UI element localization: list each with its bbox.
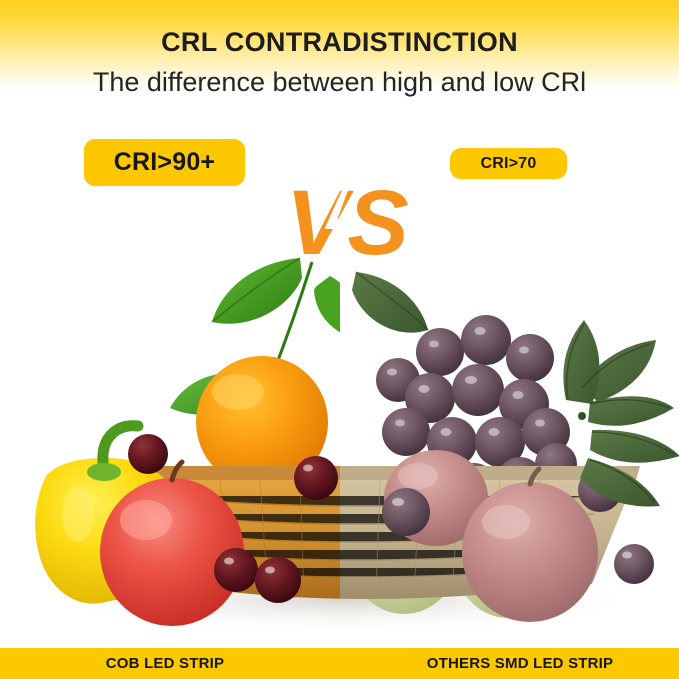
badge-cri-90: CRI>90+ (84, 139, 245, 186)
page-subtitle: The difference between high and low CRl (0, 67, 679, 98)
footer-label-smd: OTHERS SMD LED STRIP (395, 648, 645, 679)
versus-graphic: VS (268, 142, 420, 300)
footer-bar: COB LED STRIP OTHERS SMD LED STRIP (0, 648, 679, 679)
page-title: CRL CONTRADISTINCTION (0, 27, 679, 58)
footer-label-cob: COB LED STRIP (60, 648, 270, 679)
compound-leaf-fan (563, 320, 679, 506)
badge-cri-70: CRI>70 (450, 148, 567, 179)
cri-comparison-poster: CRL CONTRADISTINCTION The difference bet… (0, 0, 679, 679)
